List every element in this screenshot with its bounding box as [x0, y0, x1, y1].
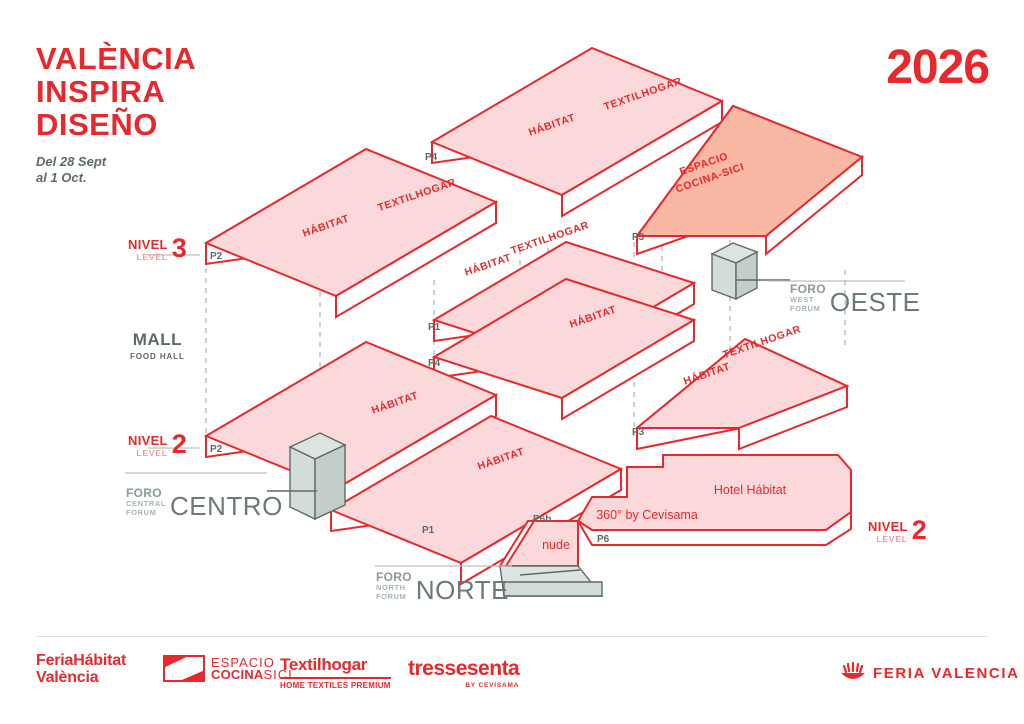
hall-label-nude: nude: [542, 538, 570, 552]
logo-feria-habitat-line2: València: [36, 669, 126, 686]
pavilion-code-p3-top: P3: [632, 232, 645, 243]
level-2-left-sub: LEVEL: [128, 449, 168, 458]
foro-norte-block: [500, 566, 602, 596]
logo-espacio-cocina-sici[interactable]: ESPACIO COCINASICI: [163, 655, 293, 682]
hall-label-cevisama: 360° by Cevisama: [596, 508, 698, 522]
level-3-number: 3: [172, 236, 187, 260]
logo-feria-valencia-text: FERIA VALENCIA: [873, 665, 1020, 682]
foro-centro-label[interactable]: FORO CENTRAL FORUM CENTRO: [126, 487, 283, 519]
level-2-right-number: 2: [912, 518, 927, 542]
foro-centro-word: FORO: [126, 487, 166, 499]
venue-isometric-map: .slab-top { fill:#fbd9da; stroke:#e8282b…: [0, 0, 1024, 724]
foro-centro-sub2: FORUM: [126, 509, 166, 517]
foro-norte-sub2: FORUM: [376, 593, 412, 601]
espacio-cocina-mark-icon: [163, 655, 205, 682]
level-3-sub: LEVEL: [128, 253, 168, 262]
logo-textilhogar-rule: [280, 677, 391, 679]
level-2-left-indicator: NIVEL LEVEL 2: [128, 432, 187, 458]
pavilion-p2-top[interactable]: HÁBITAT TEXTILHOGAR P2: [206, 149, 496, 317]
pavilion-code-p2-top: P2: [210, 251, 223, 262]
pavilion-code-p3-low: P3: [632, 427, 645, 438]
level-2-right-indicator: NIVEL LEVEL 2: [868, 518, 927, 544]
foro-norte-label[interactable]: FORO NORTH FORUM NORTE: [376, 571, 509, 603]
logo-feria-valencia[interactable]: FERIA VALENCIA: [840, 662, 1020, 684]
foro-norte-name: NORTE: [416, 578, 509, 603]
logo-textilhogar-line2: HOME TEXTILES PREMIUM: [280, 681, 391, 690]
foro-oeste-sub2: FORUM: [790, 305, 826, 313]
level-2-right-sub: LEVEL: [868, 535, 908, 544]
pavilion-code-p6b: P6b: [533, 514, 551, 525]
logo-textilhogar-line1: Textilhogar: [280, 655, 391, 675]
foro-norte-sub1: NORTH: [376, 584, 412, 592]
logo-tressesenta[interactable]: tressesenta BY CEVISAMA: [408, 657, 519, 689]
pavilion-code-p2-low: P2: [210, 444, 223, 455]
foro-oeste-block: [712, 243, 757, 299]
foro-oeste-name: OESTE: [830, 290, 921, 315]
logo-feria-habitat-line1: FeriaHábitat: [36, 652, 126, 669]
footer-divider: [36, 636, 988, 637]
foro-oeste-word: FORO: [790, 283, 826, 295]
logo-espacio-cocina-bold: COCINA: [211, 667, 263, 682]
foro-oeste-sub1: WEST: [790, 296, 826, 304]
level-3-word: NIVEL: [128, 238, 168, 251]
pavilion-code-p4-top: P4: [425, 152, 438, 163]
logo-tressesenta-line1: tressesenta: [408, 657, 519, 681]
pavilion-code-p1-low: P1: [422, 525, 435, 536]
logo-feria-habitat-valencia[interactable]: FeriaHábitat València: [36, 652, 126, 686]
mall-label: MALL: [130, 330, 185, 350]
foro-centro-block: [290, 433, 345, 519]
level-2-right-word: NIVEL: [868, 520, 908, 533]
level-2-left-number: 2: [172, 432, 187, 456]
level-3-indicator: NIVEL LEVEL 3: [128, 236, 187, 262]
hall-label-hotel-habitat: Hotel Hábitat: [714, 483, 787, 497]
logo-textilhogar[interactable]: Textilhogar HOME TEXTILES PREMIUM: [280, 655, 391, 690]
pavilion-code-p6: P6: [597, 534, 610, 545]
foro-centro-sub1: CENTRAL: [126, 500, 166, 508]
hall-label-habitat-p1mid: HÁBITAT: [463, 251, 513, 279]
mall-sublabel: FOOD HALL: [130, 352, 185, 361]
foro-norte-word: FORO: [376, 571, 412, 583]
level-2-left-word: NIVEL: [128, 434, 168, 447]
mall-indicator: MALL FOOD HALL: [130, 330, 185, 361]
pavilion-code-p1-mid: P1: [428, 322, 441, 333]
poster-canvas: VALÈNCIA INSPIRA DISEÑO Del 28 Sept al 1…: [0, 0, 1024, 724]
feria-valencia-flame-icon: [840, 662, 866, 684]
foro-centro-name: CENTRO: [170, 494, 283, 519]
logo-tressesenta-line2: BY CEVISAMA: [408, 682, 519, 689]
foro-oeste-label[interactable]: FORO WEST FORUM OESTE: [790, 283, 921, 315]
